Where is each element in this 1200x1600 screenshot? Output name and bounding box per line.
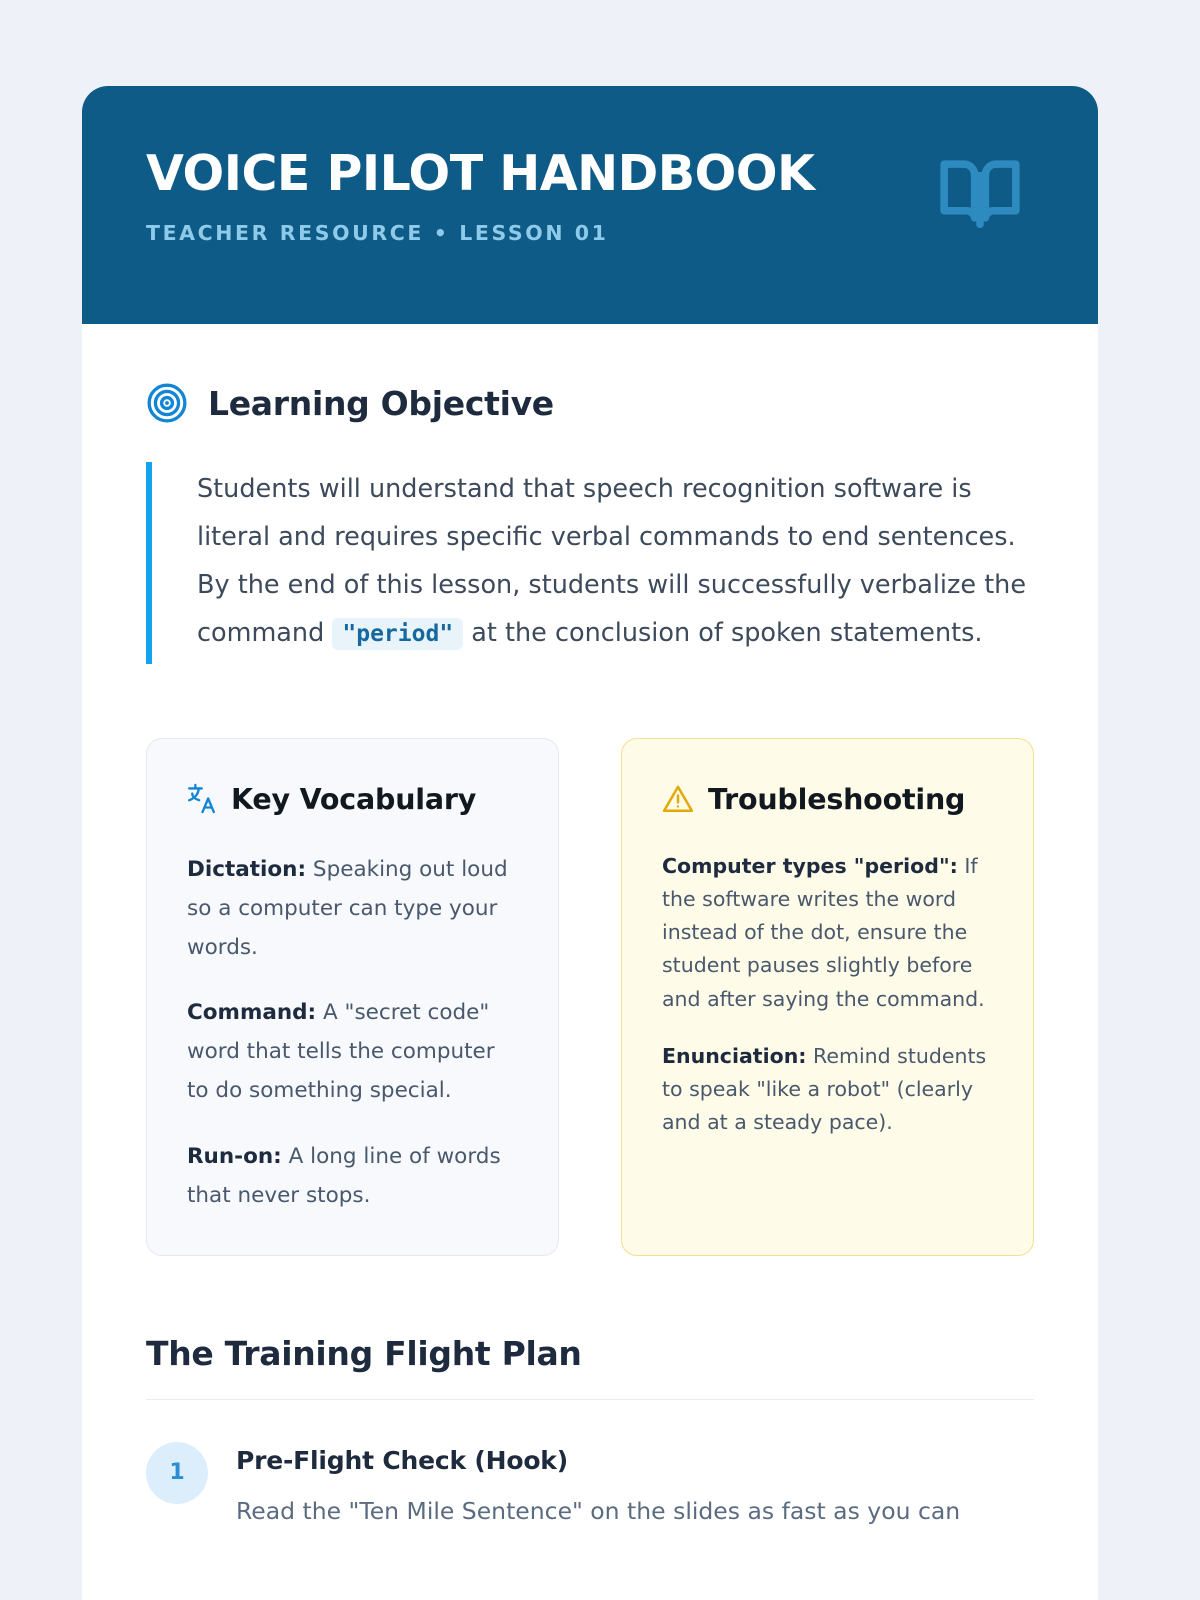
vocabulary-entry: Dictation: Speaking out loud so a comput…	[187, 850, 520, 967]
step-body: Pre-Flight Check (Hook) Read the "Ten Mi…	[236, 1442, 960, 1531]
key-vocabulary-header: Key Vocabulary	[187, 783, 520, 816]
key-vocabulary-title: Key Vocabulary	[231, 783, 476, 816]
page-subtitle: TEACHER RESOURCE • LESSON 01	[146, 221, 1042, 245]
page-body: Learning Objective Students will underst…	[82, 382, 1098, 1530]
target-icon	[146, 382, 188, 424]
warning-triangle-icon	[662, 784, 694, 814]
step-number-badge: 1	[146, 1442, 208, 1504]
learning-objective-heading: Learning Objective	[146, 382, 1034, 424]
objective-text-after: at the conclusion of spoken statements.	[471, 618, 982, 648]
vocabulary-entry: Command: A "secret code" word that tells…	[187, 993, 520, 1110]
translate-icon	[187, 783, 217, 815]
learning-objective-title: Learning Objective	[208, 384, 554, 423]
flight-plan-step: 1 Pre-Flight Check (Hook) Read the "Ten …	[146, 1442, 1034, 1531]
open-book-icon	[934, 148, 1026, 234]
step-title: Pre-Flight Check (Hook)	[236, 1446, 960, 1475]
flight-plan-divider	[146, 1399, 1034, 1400]
vocabulary-term: Dictation:	[187, 857, 306, 882]
troubleshooting-header: Troubleshooting	[662, 783, 995, 816]
learning-objective-text: Students will understand that speech rec…	[197, 466, 1034, 658]
page-title: VOICE PILOT HANDBOOK	[146, 148, 1042, 199]
key-vocabulary-card: Key Vocabulary Dictation: Speaking out l…	[146, 738, 559, 1256]
handbook-sheet: VOICE PILOT HANDBOOK TEACHER RESOURCE • …	[82, 86, 1098, 1600]
step-description: Read the "Ten Mile Sentence" on the slid…	[236, 1493, 960, 1531]
troubleshooting-term: Computer types "period":	[662, 854, 958, 878]
info-cards-row: Key Vocabulary Dictation: Speaking out l…	[146, 738, 1034, 1256]
vocabulary-term: Run-on:	[187, 1144, 282, 1169]
troubleshooting-entry: Enunciation: Remind students to speak "l…	[662, 1040, 995, 1140]
vocabulary-entry: Run-on: A long line of words that never …	[187, 1137, 520, 1215]
learning-objective-block: Students will understand that speech rec…	[146, 462, 1034, 664]
page-header: VOICE PILOT HANDBOOK TEACHER RESOURCE • …	[82, 86, 1098, 324]
vocabulary-term: Command:	[187, 1000, 316, 1025]
troubleshooting-term: Enunciation:	[662, 1044, 807, 1068]
handbook-page: VOICE PILOT HANDBOOK TEACHER RESOURCE • …	[0, 0, 1200, 1600]
troubleshooting-card: Troubleshooting Computer types "period":…	[621, 738, 1034, 1256]
troubleshooting-entry: Computer types "period": If the software…	[662, 850, 995, 1016]
troubleshooting-title: Troubleshooting	[708, 783, 965, 816]
period-code-chip: "period"	[332, 618, 463, 650]
flight-plan-title: The Training Flight Plan	[146, 1334, 1034, 1373]
